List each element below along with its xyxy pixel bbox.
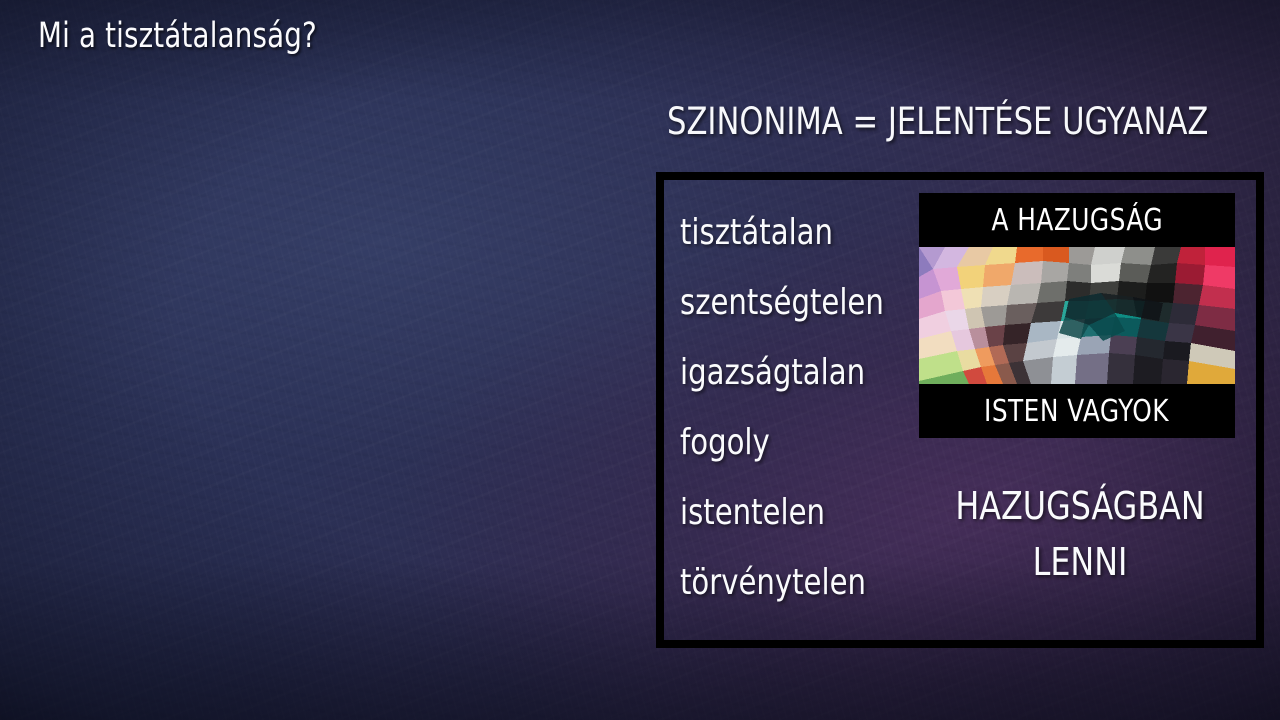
meme-caption: HAZUGSÁGBAN LENNI bbox=[930, 478, 1230, 590]
list-item: szentségtelen bbox=[680, 268, 905, 338]
synonym-word-list: tisztátalan szentségtelen igazságtalan f… bbox=[680, 198, 930, 618]
page-title: Mi a tisztátalanság? bbox=[38, 16, 317, 56]
meme-caption-line-1: HAZUGSÁGBAN bbox=[941, 478, 1220, 534]
low-poly-eye-icon bbox=[919, 247, 1235, 384]
meme-top-bar: A HAZUGSÁG bbox=[919, 193, 1235, 247]
list-item: igazságtalan bbox=[680, 338, 905, 408]
list-item: istentelen bbox=[680, 478, 905, 548]
list-item: tisztátalan bbox=[680, 198, 905, 268]
synonym-heading: SZINONIMA = JELENTÉSE UGYANAZ bbox=[667, 100, 1219, 143]
meme-bottom-bar: ISTEN VAGYOK bbox=[919, 384, 1235, 438]
meme-card: A HAZUGSÁG bbox=[919, 193, 1235, 438]
meme-caption-line-2: LENNI bbox=[941, 534, 1220, 590]
slide-canvas: Mi a tisztátalanság? SZINONIMA = JELENTÉ… bbox=[0, 0, 1280, 720]
meme-top-text: A HAZUGSÁG bbox=[991, 203, 1163, 238]
meme-bottom-text: ISTEN VAGYOK bbox=[985, 394, 1170, 429]
list-item: törvénytelen bbox=[680, 548, 905, 618]
list-item: fogoly bbox=[680, 408, 905, 478]
